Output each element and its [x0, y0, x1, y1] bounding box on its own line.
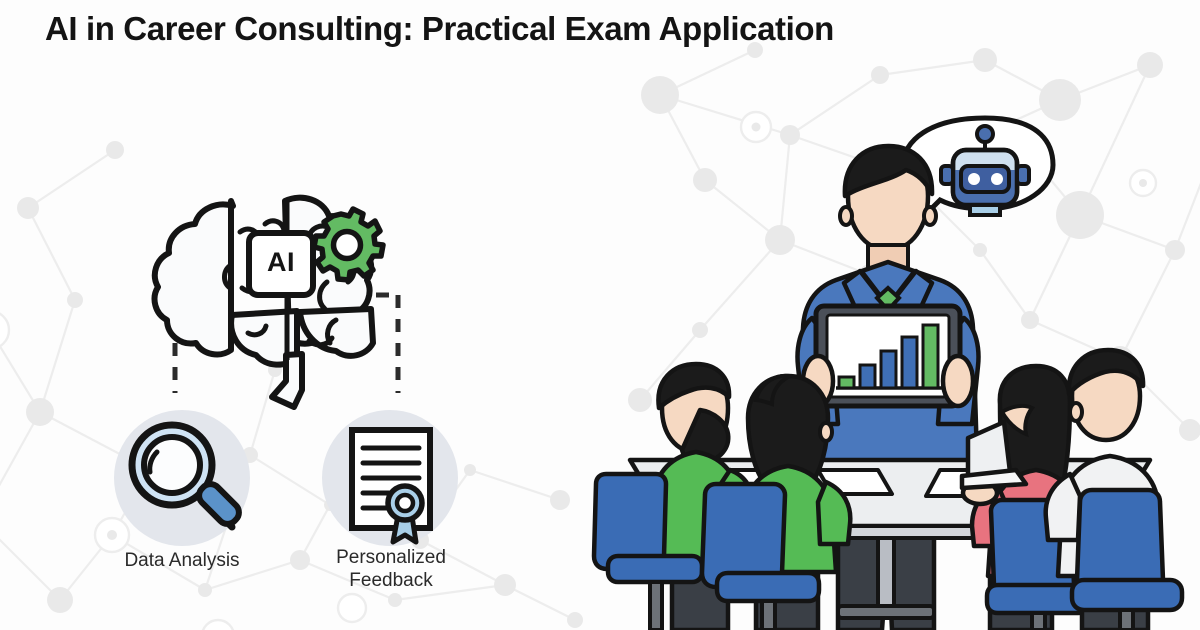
- meeting-room-illustration: [0, 0, 1200, 630]
- infographic-canvas: AI in Career Consulting: Practical Exam …: [0, 0, 1200, 630]
